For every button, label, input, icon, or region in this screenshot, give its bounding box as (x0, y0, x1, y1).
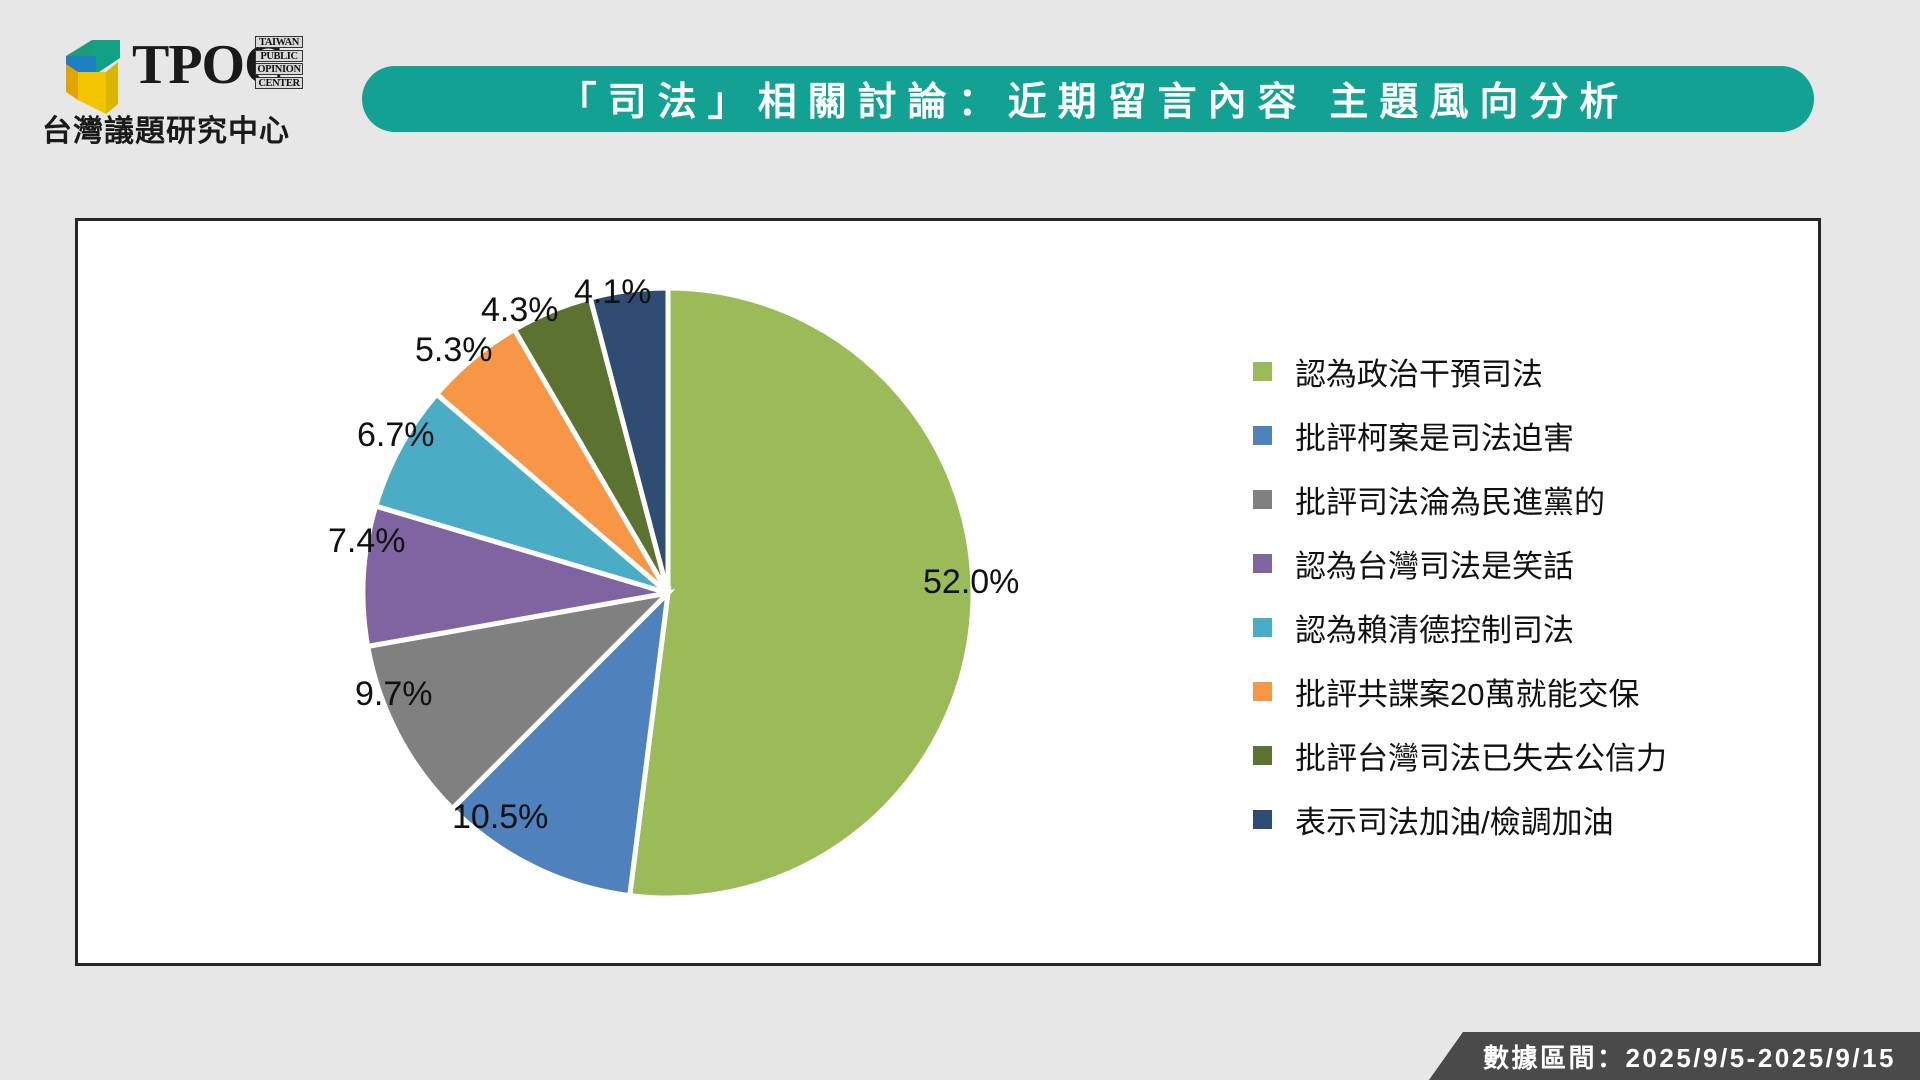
legend-item-label: 認為政治干預司法 (1295, 349, 1543, 394)
pie-chart-svg (78, 221, 1258, 963)
stamp-line-taiwan: TAIWAN (255, 36, 303, 48)
legend-swatch-icon (1253, 426, 1272, 445)
pie-slice (630, 288, 973, 898)
legend-item: 表示司法加油/檢調加油 (1253, 787, 1793, 851)
legend-swatch-icon (1253, 746, 1272, 765)
legend-item-label: 認為台灣司法是笑話 (1295, 541, 1574, 586)
legend-item: 批評柯案是司法迫害 (1253, 403, 1793, 467)
pie-percent-label: 4.3% (481, 291, 559, 330)
legend-item: 批評司法淪為民進黨的 (1253, 467, 1793, 531)
legend-item: 批評共諜案20萬就能交保 (1253, 659, 1793, 723)
pie-percent-label: 9.7% (355, 675, 433, 714)
legend-item-label: 批評共諜案20萬就能交保 (1295, 669, 1639, 714)
legend-swatch-icon (1253, 810, 1272, 829)
stamp-line-opinion: OPINION (255, 63, 303, 75)
legend-swatch-icon (1253, 362, 1272, 381)
legend-swatch-icon (1253, 682, 1272, 701)
page-header: TPOC TAIWAN PUBLIC OPINION CENTER 台灣議題研究… (0, 0, 1920, 172)
chart-legend: 認為政治干預司法批評柯案是司法迫害批評司法淪為民進黨的認為台灣司法是笑話認為賴清… (1253, 339, 1793, 851)
pie-percent-label: 5.3% (415, 331, 493, 370)
legend-swatch-icon (1253, 490, 1272, 509)
stamp-line-public: PUBLIC (255, 50, 303, 62)
legend-item: 認為賴清德控制司法 (1253, 595, 1793, 659)
title-banner: 「司法」相關討論：近期留言內容 主題風向分析 (362, 66, 1814, 132)
legend-item: 批評台灣司法已失去公信力 (1253, 723, 1793, 787)
tpoc-stamp-icon: TAIWAN PUBLIC OPINION CENTER (255, 36, 303, 98)
tpoc-logo: TPOC TAIWAN PUBLIC OPINION CENTER 台灣議題研究… (40, 26, 310, 151)
pie-percent-label: 10.5% (452, 798, 548, 837)
legend-item-label: 表示司法加油/檢調加油 (1295, 797, 1614, 842)
pie-percent-label: 52.0% (923, 563, 1019, 602)
page-title: 「司法」相關討論：近期留言內容 主題風向分析 (547, 71, 1630, 127)
legend-swatch-icon (1253, 554, 1272, 573)
data-range-tag: 數據區間：2025/9/5-2025/9/15 (1429, 1032, 1920, 1080)
data-range-label: 數據區間：2025/9/5-2025/9/15 (1483, 1038, 1896, 1075)
chart-panel: 52.0%10.5%9.7%7.4%6.7%5.3%4.3%4.1% 認為政治干… (75, 218, 1821, 966)
pie-percent-label: 4.1% (574, 273, 652, 312)
legend-item-label: 認為賴清德控制司法 (1295, 605, 1574, 650)
legend-item: 認為台灣司法是笑話 (1253, 531, 1793, 595)
pie-percent-label: 7.4% (328, 522, 406, 561)
legend-item-label: 批評台灣司法已失去公信力 (1295, 733, 1667, 778)
pie-chart-area: 52.0%10.5%9.7%7.4%6.7%5.3%4.3%4.1% (78, 221, 1258, 963)
legend-item: 認為政治干預司法 (1253, 339, 1793, 403)
legend-item-label: 批評司法淪為民進黨的 (1295, 477, 1605, 522)
legend-item-label: 批評柯案是司法迫害 (1295, 413, 1574, 458)
tpoc-subtitle: 台灣議題研究中心 (42, 106, 310, 150)
stamp-line-center: CENTER (255, 77, 303, 89)
pie-percent-label: 6.7% (357, 416, 435, 455)
tpoc-logo-mark-icon (48, 30, 138, 116)
legend-swatch-icon (1253, 618, 1272, 637)
